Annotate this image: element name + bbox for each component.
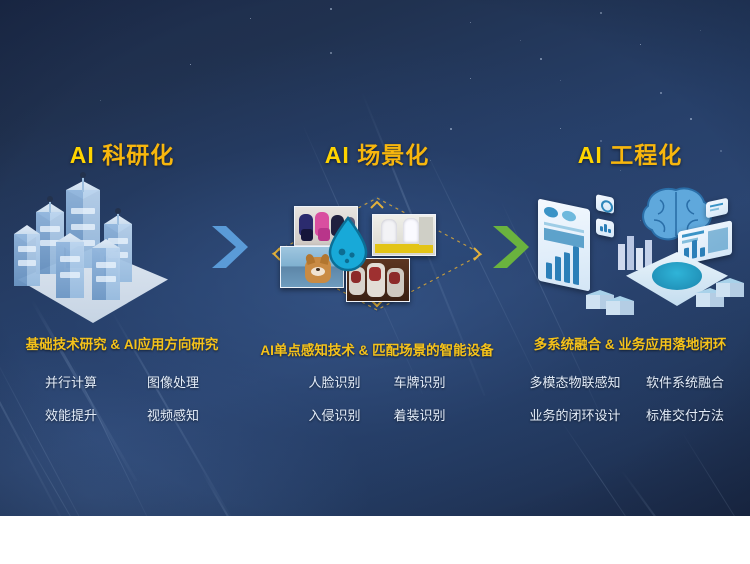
dashboard-panel-left xyxy=(538,198,590,291)
slide-canvas: AI 科研化 xyxy=(0,0,750,516)
building-front-right xyxy=(92,248,120,300)
server-rack-left-2 xyxy=(606,296,634,322)
list-item: 软件系统融合 xyxy=(632,372,738,391)
chevron-right-icon xyxy=(206,222,252,272)
list-item: 效能提升 xyxy=(22,405,120,424)
building-far-left xyxy=(14,234,40,286)
column-scenario: AI 场景化 xyxy=(252,0,502,516)
list-item: 图像处理 xyxy=(124,372,222,391)
list-item: 标准交付方法 xyxy=(632,405,738,424)
arrow-research-to-scenario xyxy=(206,222,252,272)
column-engineering: AI 工程化 xyxy=(510,0,750,516)
column-title-research: AI 科研化 xyxy=(0,136,244,170)
gloves-photo xyxy=(372,214,436,256)
building-antenna xyxy=(117,212,119,225)
list-item: 视频感知 xyxy=(124,405,222,424)
column-title-suffix: 工程化 xyxy=(610,142,682,168)
column-title-suffix: 科研化 xyxy=(102,142,174,168)
document-icon-tile xyxy=(706,198,728,219)
column-heading-research: 基础技术研究 & AI应用方向研究 xyxy=(0,333,244,353)
water-droplet-icon xyxy=(326,216,370,272)
building-antenna xyxy=(82,176,84,192)
chart-icon-tile xyxy=(596,218,614,238)
column-heading-engineering: 多系统融合 & 业务应用落地闭环 xyxy=(510,333,750,353)
list-item: 着装识别 xyxy=(379,405,460,424)
building-front-left xyxy=(56,242,84,298)
column-items-engineering: 多模态物联感知 软件系统融合 业务的闭环设计 标准交付方法 xyxy=(510,372,750,424)
list-item: 业务的闭环设计 xyxy=(522,405,628,424)
column-heading-scenario: AI单点感知技术 & 匹配场景的智能设备 xyxy=(252,339,502,359)
column-items-scenario: 人脸识别 车牌识别 入侵识别 着装识别 xyxy=(252,372,502,424)
list-item: 多模态物联感知 xyxy=(522,372,628,391)
illustration-photo-cluster xyxy=(252,190,502,320)
list-item: 入侵识别 xyxy=(294,405,375,424)
column-title-prefix: AI xyxy=(578,142,603,168)
camera-icon-tile xyxy=(596,194,614,214)
column-title-scenario: AI 场景化 xyxy=(252,136,502,170)
column-title-prefix: AI xyxy=(325,142,350,168)
list-item: 车牌识别 xyxy=(379,372,460,391)
server-rack-right-2 xyxy=(716,278,744,304)
column-items-research: 并行计算 图像处理 效能提升 视频感知 xyxy=(0,372,244,424)
column-title-engineering: AI 工程化 xyxy=(510,136,750,170)
white-footer-area xyxy=(0,516,750,564)
list-item: 人脸识别 xyxy=(294,372,375,391)
list-item: 并行计算 xyxy=(22,372,120,391)
column-title-suffix: 场景化 xyxy=(357,142,429,168)
illustration-ai-platform xyxy=(510,178,750,320)
building-antenna xyxy=(49,200,51,213)
column-title-prefix: AI xyxy=(70,142,95,168)
